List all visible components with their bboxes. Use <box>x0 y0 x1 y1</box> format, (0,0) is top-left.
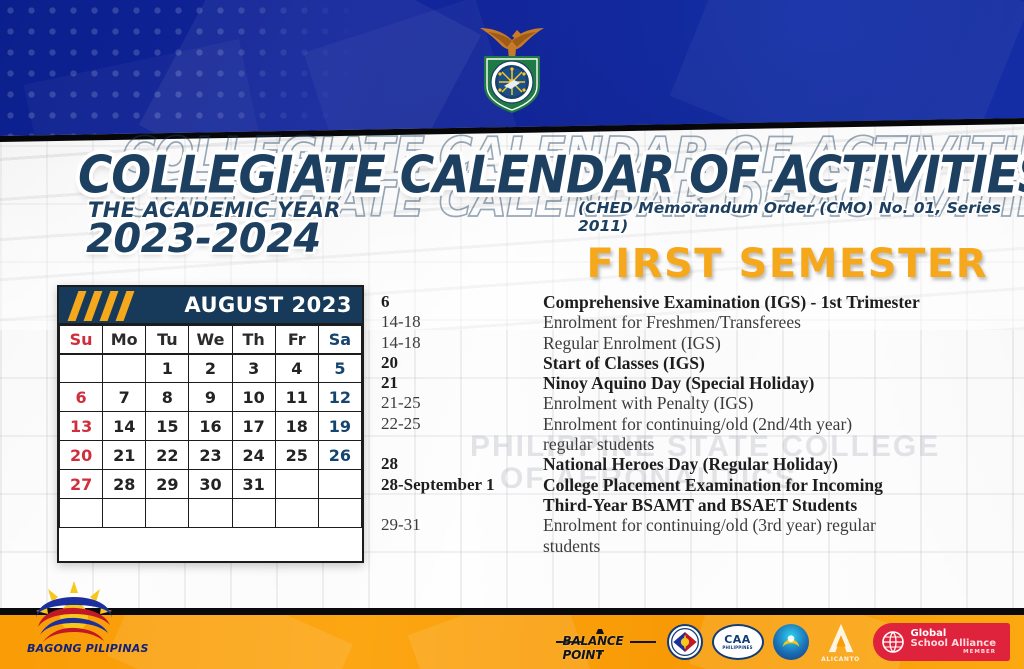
alicanto-logo: ALICANTO <box>818 622 864 662</box>
calendar-weekday-we: We <box>189 326 232 354</box>
calendar-poster: COLLEGE OF AERONAUTICS PHILIPPINE STATE … <box>0 0 1024 669</box>
diagonal-stripes-icon <box>71 291 143 321</box>
calendar-day-cell[interactable]: 14 <box>103 412 146 441</box>
event-text: National Heroes Day (Regular Holiday) <box>543 454 1006 474</box>
calendar-weekday-th: Th <box>232 326 275 354</box>
event-date: 22-25 <box>381 414 543 434</box>
calendar-day-cell[interactable] <box>103 354 146 383</box>
emblem-logo <box>773 624 809 660</box>
bagong-pilipinas-label: BAGONG PILIPINAS <box>27 642 149 655</box>
event-text: students <box>543 536 1006 556</box>
calendar-day-cell[interactable] <box>60 354 103 383</box>
calendar-body: 1 2 3 4 5 6 7 8 9 10 11 12 13 14 <box>60 354 362 528</box>
globe-icon <box>881 630 905 654</box>
calendar-day-cell[interactable] <box>146 499 189 528</box>
list-item-continuation: regular students <box>381 434 1006 454</box>
calendar-day-cell[interactable]: 18 <box>275 412 318 441</box>
cmo-memorandum-note: (CHED Memorandum Order (CMO) No. 01, Ser… <box>578 199 1024 235</box>
calendar-day-cell[interactable]: 9 <box>189 383 232 412</box>
calendar-weekday-sa: Sa <box>318 326 361 354</box>
calendar-day-cell[interactable]: 7 <box>103 383 146 412</box>
calendar-week-row: 1 2 3 4 5 <box>60 354 362 383</box>
calendar-day-cell[interactable] <box>318 470 361 499</box>
calendar-week-row: 13 14 15 16 17 18 19 <box>60 412 362 441</box>
calendar-week-row <box>60 499 362 528</box>
philippine-seal-logo <box>667 624 703 660</box>
calendar-day-cell[interactable]: 15 <box>146 412 189 441</box>
calendar-day-cell[interactable]: 6 <box>60 383 103 412</box>
event-text: Enrolment for continuing/old (2nd/4th ye… <box>543 414 1006 434</box>
page-title: COLLEGIATE CALENDAR OF ACTIVITIES <box>78 145 998 206</box>
calendar-day-cell[interactable] <box>275 499 318 528</box>
list-item: 28 National Heroes Day (Regular Holiday) <box>381 454 1006 474</box>
list-item: 6 Comprehensive Examination (IGS) - 1st … <box>381 292 1006 312</box>
list-item: 29-31 Enrolment for continuing/old (3rd … <box>381 515 1006 535</box>
calendar-day-cell[interactable]: 24 <box>232 441 275 470</box>
event-date: 28 <box>381 454 543 474</box>
calendar-day-cell[interactable]: 1 <box>146 354 189 383</box>
calendar-day-cell[interactable]: 23 <box>189 441 232 470</box>
event-date: 14-18 <box>381 312 543 332</box>
calendar-day-cell[interactable]: 8 <box>146 383 189 412</box>
calendar-day-cell[interactable] <box>189 499 232 528</box>
calendar-day-cell[interactable]: 30 <box>189 470 232 499</box>
calendar-day-cell[interactable]: 17 <box>232 412 275 441</box>
event-text: Regular Enrolment (IGS) <box>543 333 1006 353</box>
calendar-day-cell[interactable]: 28 <box>103 470 146 499</box>
caa-logo: CAA PHILIPPINES <box>712 624 764 660</box>
calendar-table: Su Mo Tu We Th Fr Sa 1 2 3 4 5 <box>59 325 362 528</box>
event-text: Comprehensive Examination (IGS) - 1st Tr… <box>543 292 1006 312</box>
event-date: 21-25 <box>381 393 543 413</box>
caa-sublabel: PHILIPPINES <box>722 645 752 650</box>
calendar-day-cell[interactable]: 22 <box>146 441 189 470</box>
calendar-day-cell[interactable]: 11 <box>275 383 318 412</box>
list-item: 14-18 Regular Enrolment (IGS) <box>381 333 1006 353</box>
calendar-day-cell[interactable] <box>232 499 275 528</box>
list-item: 21-25 Enrolment with Penalty (IGS) <box>381 393 1006 413</box>
list-item: 21 Ninoy Aquino Day (Special Holiday) <box>381 373 1006 393</box>
calendar-day-cell[interactable]: 5 <box>318 354 361 383</box>
calendar-day-cell[interactable]: 26 <box>318 441 361 470</box>
list-item-continuation: Third-Year BSAMT and BSAET Students <box>381 495 1006 515</box>
event-text: Third-Year BSAMT and BSAET Students <box>543 495 1006 515</box>
partner-logos: BALANCE POINT CAA PHILIPPINES <box>554 619 1011 665</box>
alicanto-label: ALICANTO <box>821 656 860 663</box>
calendar-day-cell[interactable] <box>60 499 103 528</box>
event-date: 6 <box>381 292 543 312</box>
calendar-week-row: 20 21 22 23 24 25 26 <box>60 441 362 470</box>
calendar-week-row: 6 7 8 9 10 11 12 <box>60 383 362 412</box>
calendar-day-cell[interactable] <box>275 470 318 499</box>
list-item: 22-25 Enrolment for continuing/old (2nd/… <box>381 414 1006 434</box>
list-item: 28-September 1 College Placement Examina… <box>381 475 1006 495</box>
caa-label: CAA <box>724 634 751 645</box>
calendar-day-cell[interactable]: 25 <box>275 441 318 470</box>
calendar-day-cell[interactable]: 31 <box>232 470 275 499</box>
list-item-continuation: students <box>381 536 1006 556</box>
event-text: Enrolment for continuing/old (3rd year) … <box>543 515 1006 535</box>
global-school-alliance-logo: Global School Alliance MEMBER <box>873 623 1011 661</box>
calendar-day-cell[interactable]: 12 <box>318 383 361 412</box>
calendar-day-cell[interactable]: 21 <box>103 441 146 470</box>
event-text: College Placement Examination for Incomi… <box>543 475 1006 495</box>
calendar-weekday-su: Su <box>60 326 103 354</box>
event-date: 28-September 1 <box>381 475 543 495</box>
calendar-day-cell[interactable]: 13 <box>60 412 103 441</box>
list-item: 14-18 Enrolment for Freshmen/Transferees <box>381 312 1006 332</box>
calendar-day-cell[interactable]: 2 <box>189 354 232 383</box>
gsa-line3: MEMBER <box>911 650 997 656</box>
calendar-day-cell[interactable]: 4 <box>275 354 318 383</box>
calendar-card: AUGUST 2023 Su Mo Tu We Th Fr Sa 1 <box>57 285 364 563</box>
balance-point-logo: BALANCE POINT <box>554 627 658 657</box>
calendar-day-cell[interactable]: 20 <box>60 441 103 470</box>
balance-point-label: BALANCE POINT <box>563 634 658 662</box>
calendar-day-cell[interactable]: 29 <box>146 470 189 499</box>
calendar-weekday-tu: Tu <box>146 326 189 354</box>
calendar-week-row: 27 28 29 30 31 <box>60 470 362 499</box>
event-text: Start of Classes (IGS) <box>543 353 1006 373</box>
calendar-day-cell[interactable]: 10 <box>232 383 275 412</box>
event-date: 14-18 <box>381 333 543 353</box>
semester-heading: FIRST SEMESTER <box>586 241 988 287</box>
calendar-day-cell[interactable]: 16 <box>189 412 232 441</box>
event-date: 20 <box>381 353 543 373</box>
gsa-text: Global School Alliance MEMBER <box>911 629 997 656</box>
event-date: 21 <box>381 373 543 393</box>
calendar-day-cell[interactable]: 27 <box>60 470 103 499</box>
calendar-day-cell[interactable]: 3 <box>232 354 275 383</box>
calendar-month-label: AUGUST 2023 <box>184 293 352 317</box>
paf-aeronautics-crest-icon <box>466 14 558 114</box>
event-text: Enrolment for Freshmen/Transferees <box>543 312 1006 332</box>
event-text: Enrolment with Penalty (IGS) <box>543 393 1006 413</box>
footer-black-divider <box>0 608 1024 615</box>
list-item: 20 Start of Classes (IGS) <box>381 353 1006 373</box>
academic-year-value: 2023-2024 <box>86 216 321 262</box>
event-list: 6 Comprehensive Examination (IGS) - 1st … <box>381 292 1006 556</box>
calendar-day-cell[interactable] <box>103 499 146 528</box>
event-date: 29-31 <box>381 515 543 535</box>
calendar-weekday-mo: Mo <box>103 326 146 354</box>
event-text: Ninoy Aquino Day (Special Holiday) <box>543 373 1006 393</box>
event-text: regular students <box>543 434 1006 454</box>
calendar-weekday-row: Su Mo Tu We Th Fr Sa <box>60 326 362 354</box>
calendar-day-cell[interactable]: 19 <box>318 412 361 441</box>
calendar-day-cell[interactable] <box>318 499 361 528</box>
calendar-header: AUGUST 2023 <box>59 287 362 325</box>
calendar-weekday-fr: Fr <box>275 326 318 354</box>
